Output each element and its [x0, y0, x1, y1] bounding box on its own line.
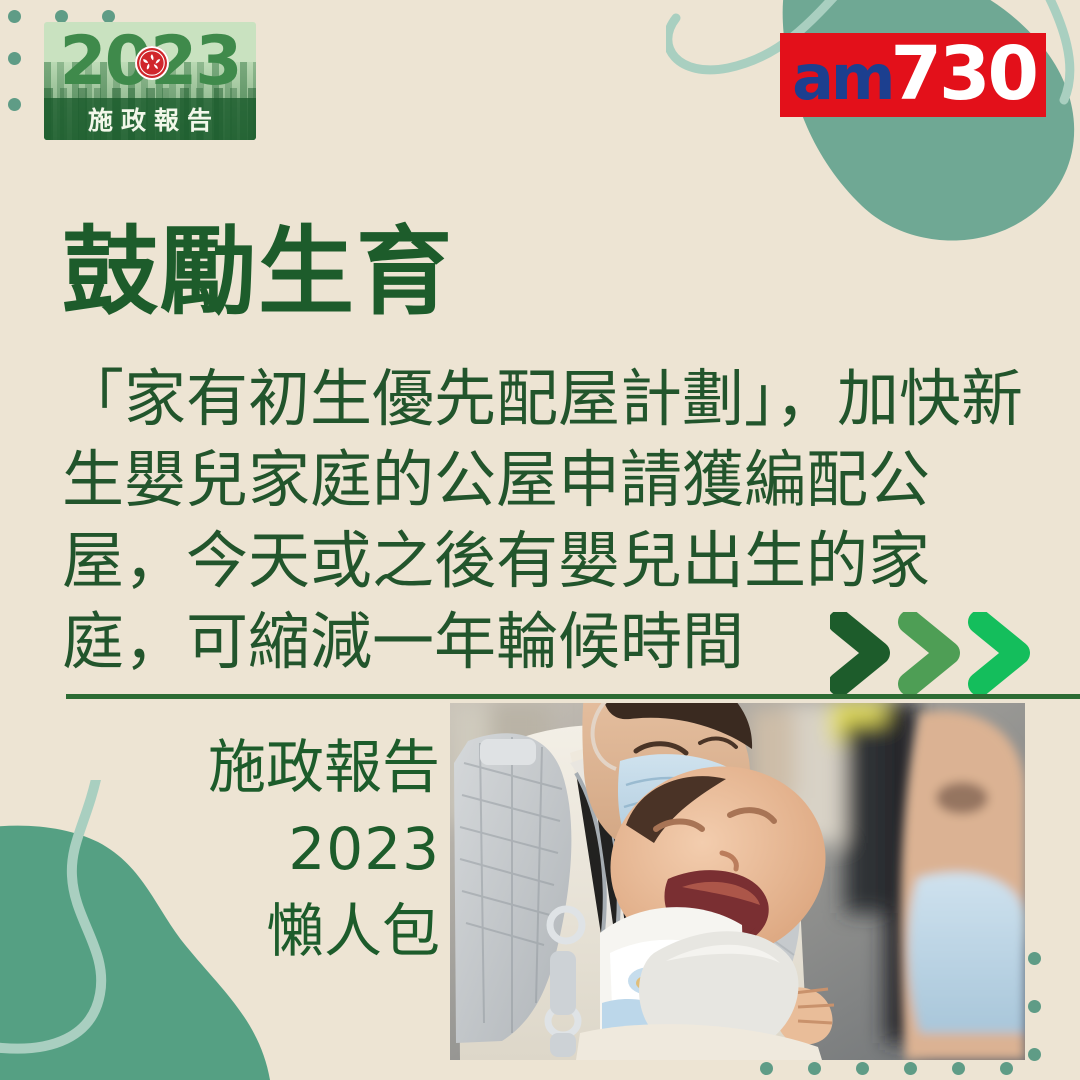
footer-caption: 施政報告 2023 懶人包	[120, 726, 440, 972]
page-title: 鼓勵生育	[62, 222, 454, 323]
poster-canvas: 2023 施政報告 am 730 鼓勵生育 「家有初生優先配屋計劃」，加快新生嬰…	[0, 0, 1080, 1080]
am730-logo-730-text: 730	[891, 37, 1036, 111]
decorative-dot	[1028, 952, 1041, 965]
am730-publisher-logo[interactable]: am 730	[780, 33, 1046, 117]
decorative-dot	[760, 1062, 773, 1075]
hong-kong-bauhinia-emblem-icon	[135, 46, 169, 80]
footer-caption-line-2: 2023	[120, 808, 440, 890]
decorative-dot	[808, 1062, 821, 1075]
decorative-dot	[904, 1062, 917, 1075]
decorative-dot	[952, 1062, 965, 1075]
footer-caption-line-3: 懶人包	[120, 890, 440, 972]
decorative-dot	[856, 1062, 869, 1075]
decorative-dot	[8, 52, 21, 65]
chevron-arrows-icon	[830, 612, 1044, 694]
am730-logo-am-text: am	[792, 47, 892, 109]
decorative-dot	[8, 98, 21, 111]
news-photo	[450, 703, 1025, 1060]
decorative-dot	[1028, 1048, 1041, 1061]
logo-banner-label: 施政報告	[44, 98, 256, 140]
footer-caption-line-1: 施政報告	[120, 726, 440, 808]
decorative-dot	[1000, 1062, 1013, 1075]
decorative-dot	[1028, 1000, 1041, 1013]
section-divider	[66, 694, 1080, 699]
decorative-dot	[8, 10, 21, 23]
policy-address-logo: 2023 施政報告	[44, 22, 256, 140]
